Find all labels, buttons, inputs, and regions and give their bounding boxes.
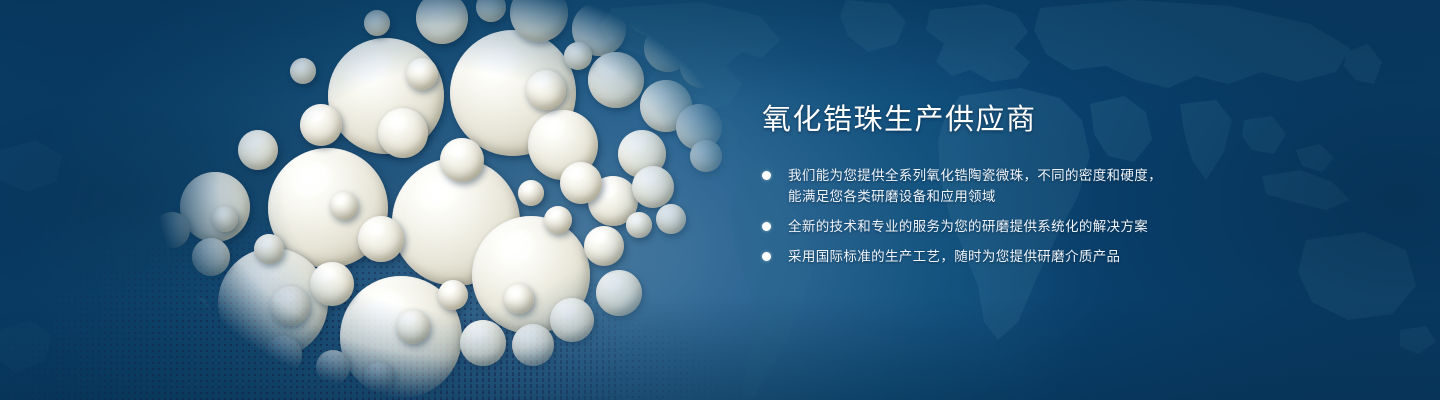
bullet-line: 全新的技术和专业的服务为您的研磨提供系统化的解决方案 bbox=[788, 216, 1322, 237]
bullet-dot-icon bbox=[762, 222, 771, 231]
bullet-dot-icon bbox=[762, 252, 771, 261]
hero-banner: 氧化锆珠生产供应商 我们能为您提供全系列氧化锆陶瓷微珠，不同的密度和硬度， 能满… bbox=[0, 0, 1440, 400]
bullet-line: 能满足您各类研磨设备和应用领域 bbox=[788, 186, 1322, 207]
list-item: 我们能为您提供全系列氧化锆陶瓷微珠，不同的密度和硬度， 能满足您各类研磨设备和应… bbox=[762, 165, 1322, 207]
bullet-line: 我们能为您提供全系列氧化锆陶瓷微珠，不同的密度和硬度， bbox=[788, 165, 1322, 186]
bullet-dot-icon bbox=[762, 171, 771, 180]
zirconia-beads-photo bbox=[120, 0, 820, 400]
feature-bullet-list: 我们能为您提供全系列氧化锆陶瓷微珠，不同的密度和硬度， 能满足您各类研磨设备和应… bbox=[762, 165, 1322, 267]
bullet-line: 采用国际标准的生产工艺，随时为您提供研磨介质产品 bbox=[788, 246, 1322, 267]
list-item: 全新的技术和专业的服务为您的研磨提供系统化的解决方案 bbox=[762, 216, 1322, 237]
list-item: 采用国际标准的生产工艺，随时为您提供研磨介质产品 bbox=[762, 246, 1322, 267]
banner-text-column: 氧化锆珠生产供应商 我们能为您提供全系列氧化锆陶瓷微珠，不同的密度和硬度， 能满… bbox=[762, 104, 1322, 267]
page-title: 氧化锆珠生产供应商 bbox=[762, 104, 1322, 137]
